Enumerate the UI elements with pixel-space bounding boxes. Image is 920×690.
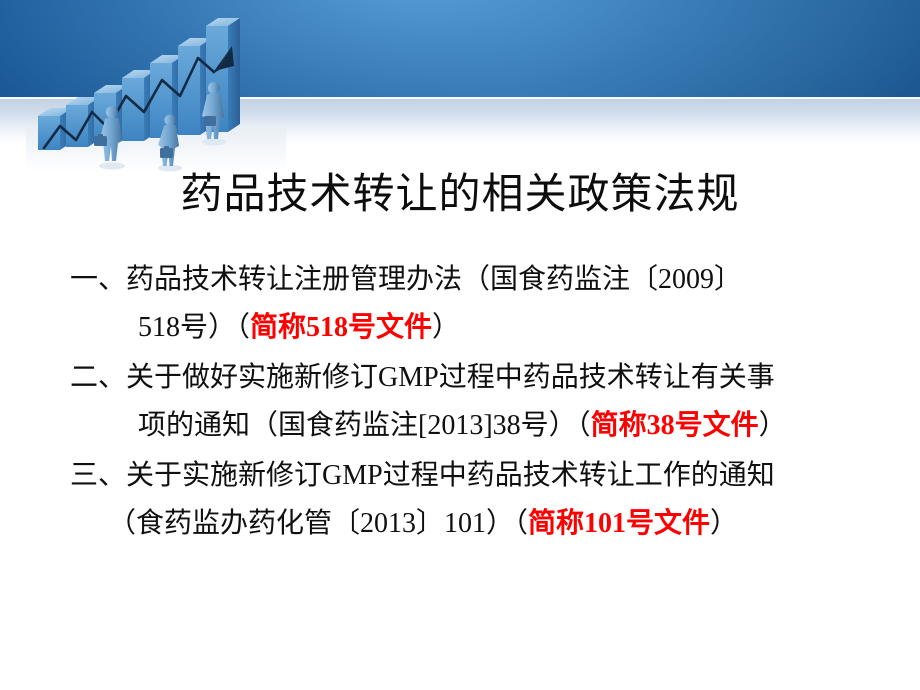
growth-bar-chart-icon <box>26 8 286 173</box>
list-item-line-2-tail: ） <box>710 508 738 539</box>
list-item-line-2-tail: ） <box>432 312 460 343</box>
list-item-highlight: 简称38号文件 <box>591 410 759 441</box>
page-title: 药品技术转让的相关政策法规 <box>0 172 920 218</box>
list-item-line-2: （食药监办药化管〔2013〕101）（简称101号文件） <box>70 500 870 548</box>
list-item-highlight: 简称518号文件 <box>250 312 432 343</box>
list-item-line-2: 项的通知（国食药监注[2013]38号）（简称38号文件） <box>70 402 870 450</box>
policy-list: 一、药品技术转让注册管理办法（国食药监注〔2009〕 518号）（简称518号文… <box>70 256 870 550</box>
presentation-slide: 药品技术转让的相关政策法规 一、药品技术转让注册管理办法（国食药监注〔2009〕… <box>0 0 920 690</box>
list-item: 二、关于做好实施新修订GMP过程中药品技术转让有关事 项的通知（国食药监注[20… <box>70 354 870 450</box>
list-item-line-2-text: （食药监办药化管〔2013〕101）（ <box>108 508 528 539</box>
list-item-line-2: 518号）（简称518号文件） <box>70 304 870 352</box>
list-item-line-1: 三、关于实施新修订GMP过程中药品技术转让工作的通知 <box>70 452 870 500</box>
list-item-line-2-text: 518号）（ <box>138 312 250 343</box>
list-item-highlight: 简称101号文件 <box>528 508 710 539</box>
list-item-line-1: 一、药品技术转让注册管理办法（国食药监注〔2009〕 <box>70 256 870 304</box>
list-item-line-2-text: 项的通知（国食药监注[2013]38号）（ <box>138 410 591 441</box>
list-item-line-1: 二、关于做好实施新修订GMP过程中药品技术转让有关事 <box>70 354 870 402</box>
list-item: 一、药品技术转让注册管理办法（国食药监注〔2009〕 518号）（简称518号文… <box>70 256 870 352</box>
list-item: 三、关于实施新修订GMP过程中药品技术转让工作的通知 （食药监办药化管〔2013… <box>70 452 870 548</box>
list-item-line-2-tail: ） <box>759 410 787 441</box>
